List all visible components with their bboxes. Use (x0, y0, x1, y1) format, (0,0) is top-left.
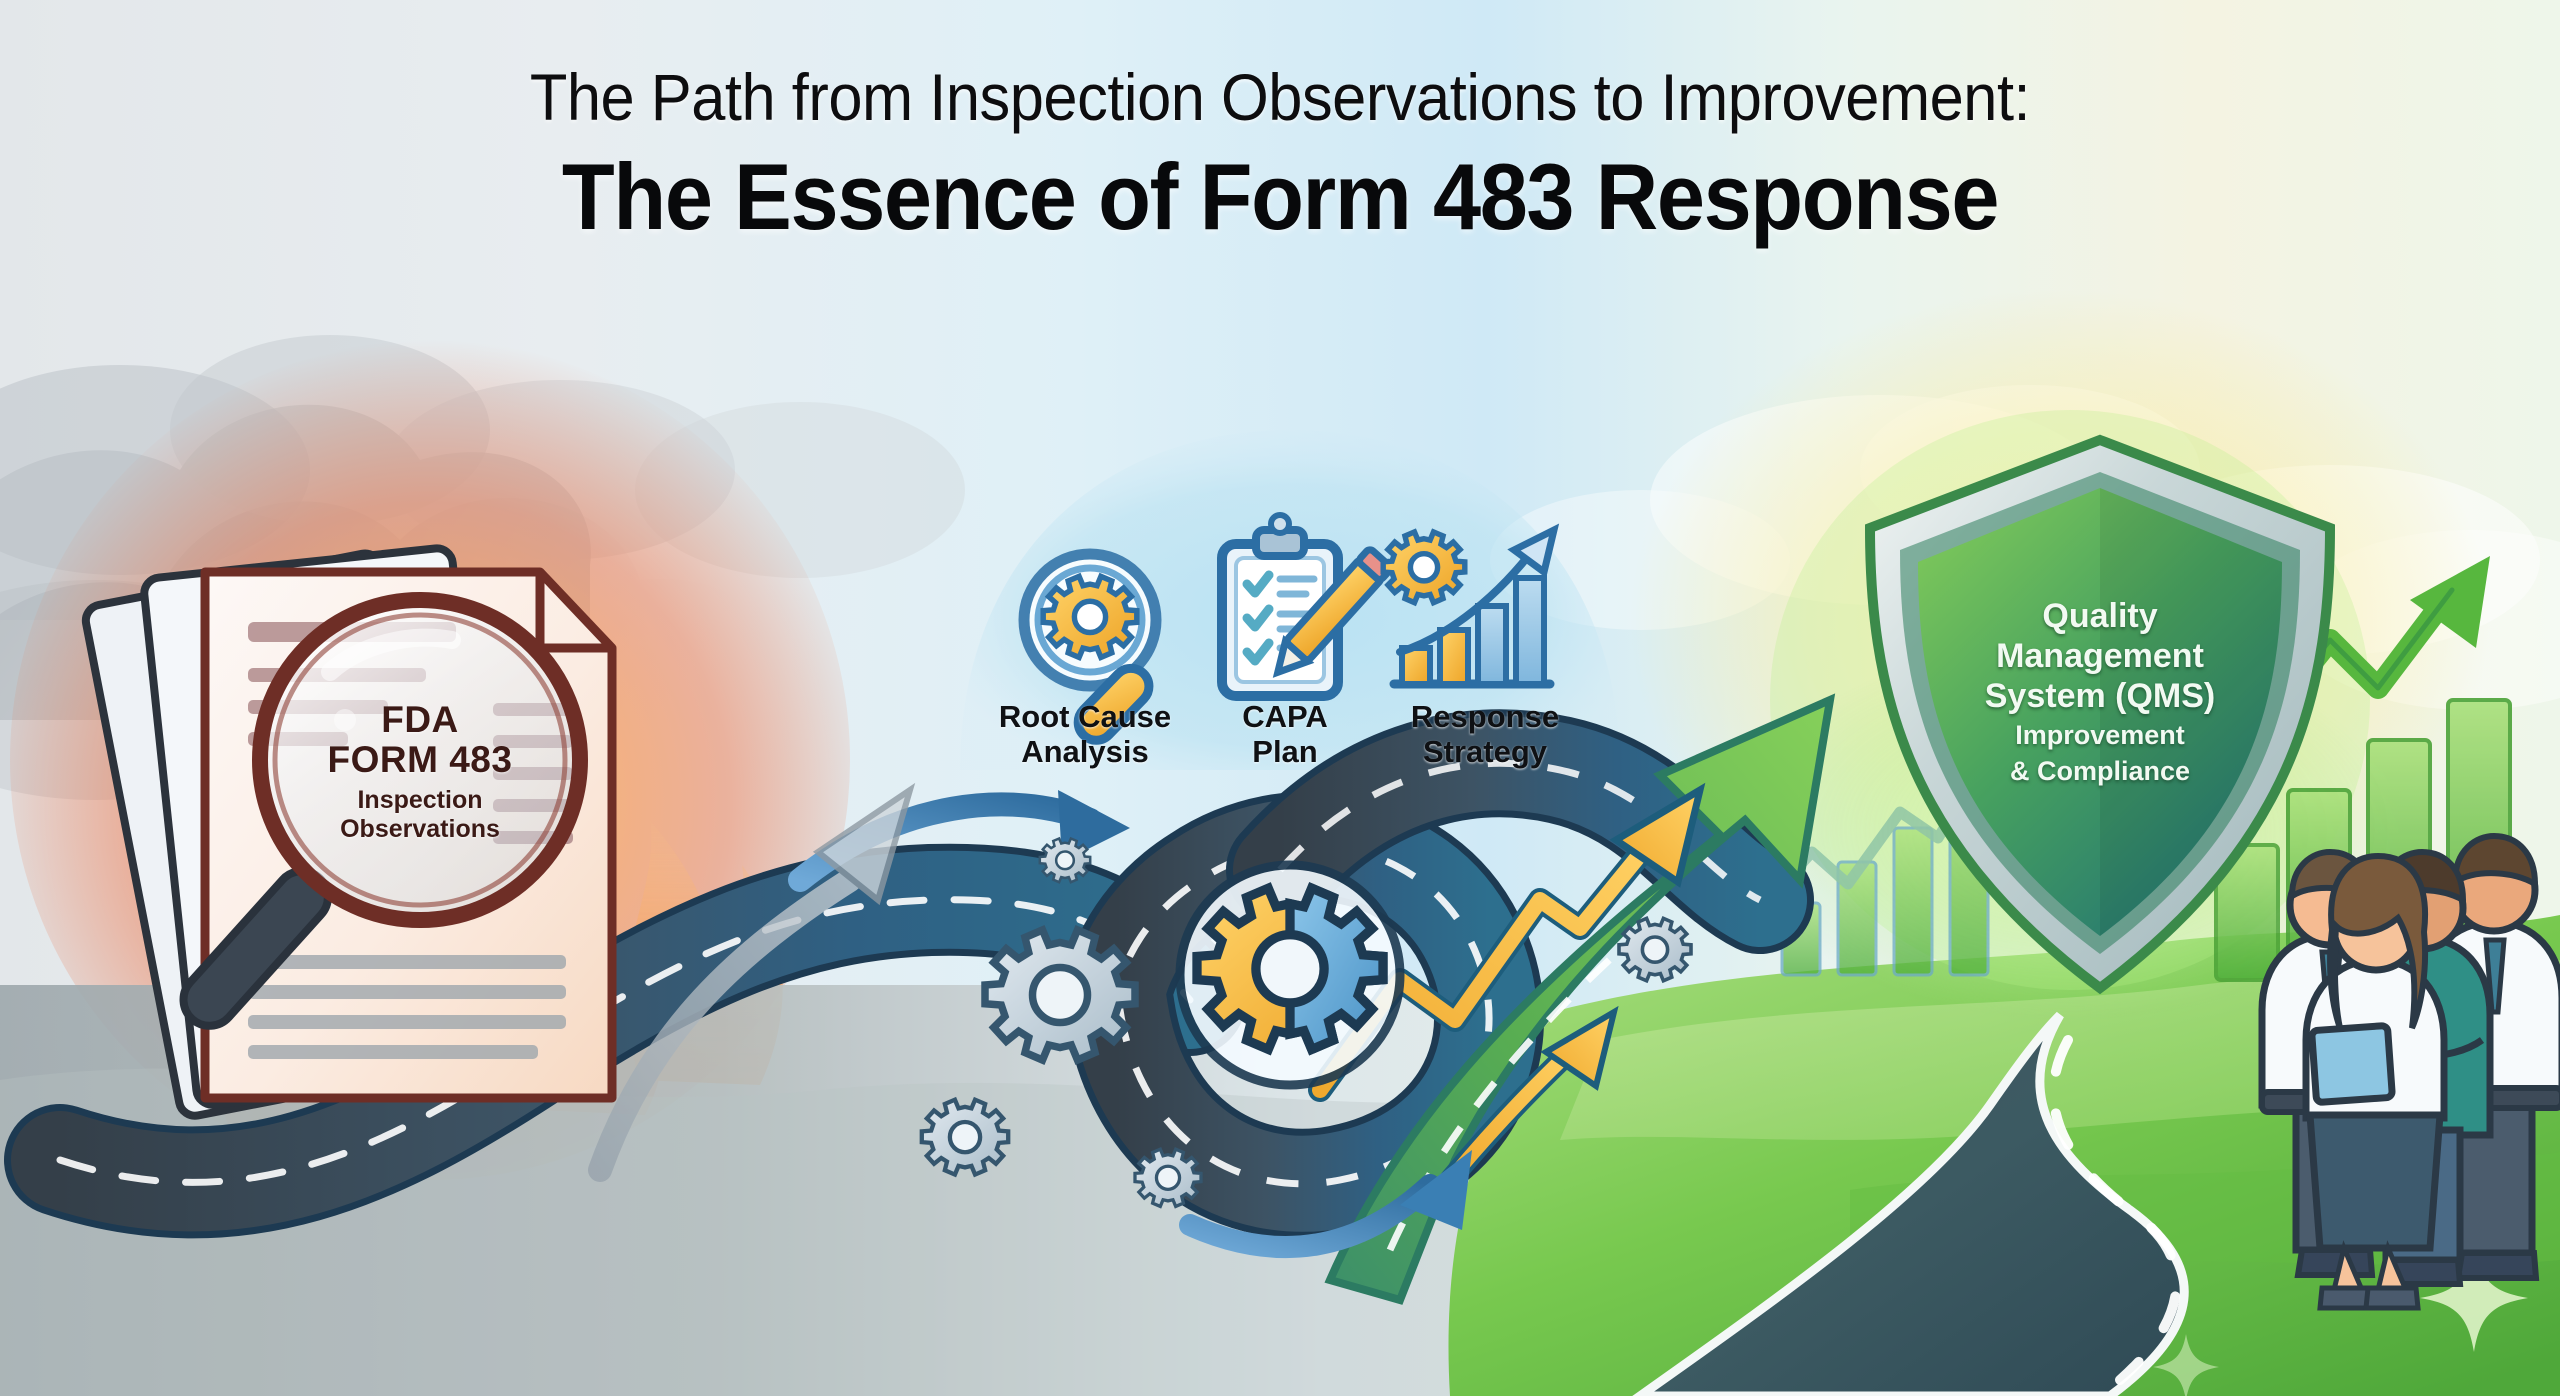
central-gear-icon (1180, 865, 1400, 1085)
infographic-canvas: The Path from Inspection Observations to… (0, 0, 2560, 1396)
background-illustration (0, 0, 2560, 1396)
team-illustration (2262, 836, 2560, 1308)
